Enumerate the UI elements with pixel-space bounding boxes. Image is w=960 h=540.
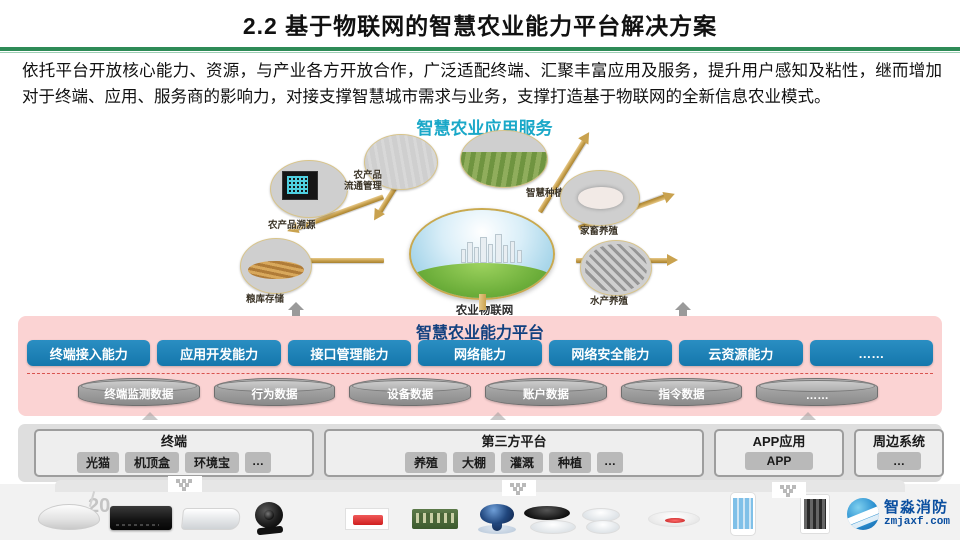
data-store-behavior[interactable]: 行为数据 [214,378,336,406]
checker-swatch-1 [168,476,202,492]
chip-set-top-box[interactable]: 机顶盒 [125,452,179,473]
data-store-terminal-monitoring[interactable]: 终端监测数据 [78,378,200,406]
group-peripheral-chips: … [856,452,942,470]
capability-cloud-resource[interactable]: 云资源能力 [679,340,802,366]
red-module-icon [345,508,389,530]
light-disc-icon-3 [586,520,620,534]
title-divider [0,47,960,51]
qr-scan-icon [270,160,348,218]
group-terminal-title: 终端 [36,431,312,452]
data-store-device[interactable]: 设备数据 [349,378,471,406]
checker-swatch-2 [502,480,536,496]
chip-third-party-more[interactable]: … [597,452,623,473]
chip-terminal-more[interactable]: … [245,452,271,473]
city-skyline-icon [459,233,524,263]
chip-planting[interactable]: 种植 [549,452,591,473]
group-app-chips: APP [716,452,842,470]
smoke-detector-icon [648,511,700,527]
set-top-box-icon [110,506,172,530]
light-disc-icon [530,520,576,534]
aquaculture-icon [580,240,652,296]
node-logistics: 农产品 流通管理 [364,134,438,190]
logo-name-cn: 智淼消防 [884,500,950,515]
group-terminal[interactable]: 终端 光猫 机顶盒 环境宝 … [34,429,314,477]
group-peripheral-system[interactable]: 周边系统 … [854,429,944,477]
platform-dashed-divider [27,373,933,374]
capability-button-row: 终端接入能力 应用开发能力 接口管理能力 网络能力 网络安全能力 云资源能力 …… [27,340,933,366]
brand-logo: 智淼消防 zmjaxf.com [847,498,950,530]
slide-title-bar: 2.2 基于物联网的智慧农业能力平台解决方案 [0,0,960,48]
wifi-router-icon [38,504,100,530]
center-stem-icon [479,294,486,310]
title-divider-thin [0,52,960,53]
node-label-livestock: 家畜养殖 [580,226,618,237]
capability-terminal-access[interactable]: 终端接入能力 [27,340,150,366]
group-terminal-chips: 光猫 机顶盒 环境宝 … [36,452,312,473]
agriculture-iot-globe-icon [409,208,555,300]
capability-more[interactable]: …… [810,340,933,366]
smartphone-icon [730,492,756,536]
capability-app-development[interactable]: 应用开发能力 [157,340,280,366]
data-store-more[interactable]: …… [756,378,878,406]
node-label-logistics: 农产品 流通管理 [344,170,382,192]
group-app-title: APP应用 [716,431,842,452]
chip-breeding[interactable]: 养殖 [405,452,447,473]
node-grain: 粮库存储 [240,238,312,294]
group-third-party-chips: 养殖 大棚 灌溉 种植 … [326,452,702,473]
tablet-icon [800,494,830,534]
capability-network[interactable]: 网络能力 [418,340,541,366]
blue-sensor-icon [480,504,514,534]
data-store-row: 终端监测数据 行为数据 设备数据 账户数据 指令数据 …… [78,378,878,408]
dark-disc-icon [524,506,570,520]
node-aquaculture: 水产养殖 [580,240,652,296]
chip-optical-modem[interactable]: 光猫 [77,452,119,473]
chip-irrigation[interactable]: 灌溉 [501,452,543,473]
bottom-systems-band: 终端 光猫 机顶盒 环境宝 … 第三方平台 养殖 大棚 灌溉 种植 … APP应… [18,424,942,482]
node-label-grain: 粮库存储 [246,294,284,305]
group-peripheral-title: 周边系统 [856,431,942,452]
page-title: 2.2 基于物联网的智慧农业能力平台解决方案 [243,7,717,41]
chip-greenhouse[interactable]: 大棚 [453,452,495,473]
livestock-icon [560,170,640,226]
node-label-traceability: 农产品溯源 [268,220,316,231]
capability-network-security[interactable]: 网络安全能力 [549,340,672,366]
chip-app[interactable]: APP [745,452,814,470]
group-third-party-title: 第三方平台 [326,431,702,452]
green-pcb-icon [412,509,458,529]
node-planting: 智慧种植 [460,130,548,188]
data-store-account[interactable]: 账户数据 [485,378,607,406]
device-photo-strip: 20 智淼消防 zmjaxf.com [0,484,960,540]
white-bar-device-icon [181,508,241,530]
logo-mark-icon [847,498,879,530]
chip-peripheral-more[interactable]: … [877,452,921,470]
capability-platform-band: 智慧农业能力平台 终端接入能力 应用开发能力 接口管理能力 网络能力 网络安全能… [18,316,942,416]
capability-api-management[interactable]: 接口管理能力 [288,340,411,366]
intro-paragraph: 依托平台开放核心能力、资源，与产业各方开放合作，广泛适配终端、汇聚丰富应用及服务… [22,58,942,110]
node-label-aquaculture: 水产养殖 [590,296,628,307]
smart-agriculture-diagram: 智慧农业应用服务 农业物联网 农产品溯源 农产品 流通管理 [232,112,737,315]
crop-field-icon [460,130,548,188]
group-third-party-platform[interactable]: 第三方平台 养殖 大棚 灌溉 种植 … [324,429,704,477]
group-app[interactable]: APP应用 APP [714,429,844,477]
node-livestock: 家畜养殖 [560,170,640,226]
node-label-planting: 智慧种植 [526,188,564,199]
chip-environment-treasure[interactable]: 环境宝 [185,452,239,473]
node-traceability: 农产品溯源 [270,160,348,218]
ip-camera-icon [255,502,285,532]
logo-name-en: zmjaxf.com [884,517,950,528]
data-store-command[interactable]: 指令数据 [621,378,743,406]
grain-storage-icon [240,238,312,294]
checker-swatch-3 [772,482,806,498]
